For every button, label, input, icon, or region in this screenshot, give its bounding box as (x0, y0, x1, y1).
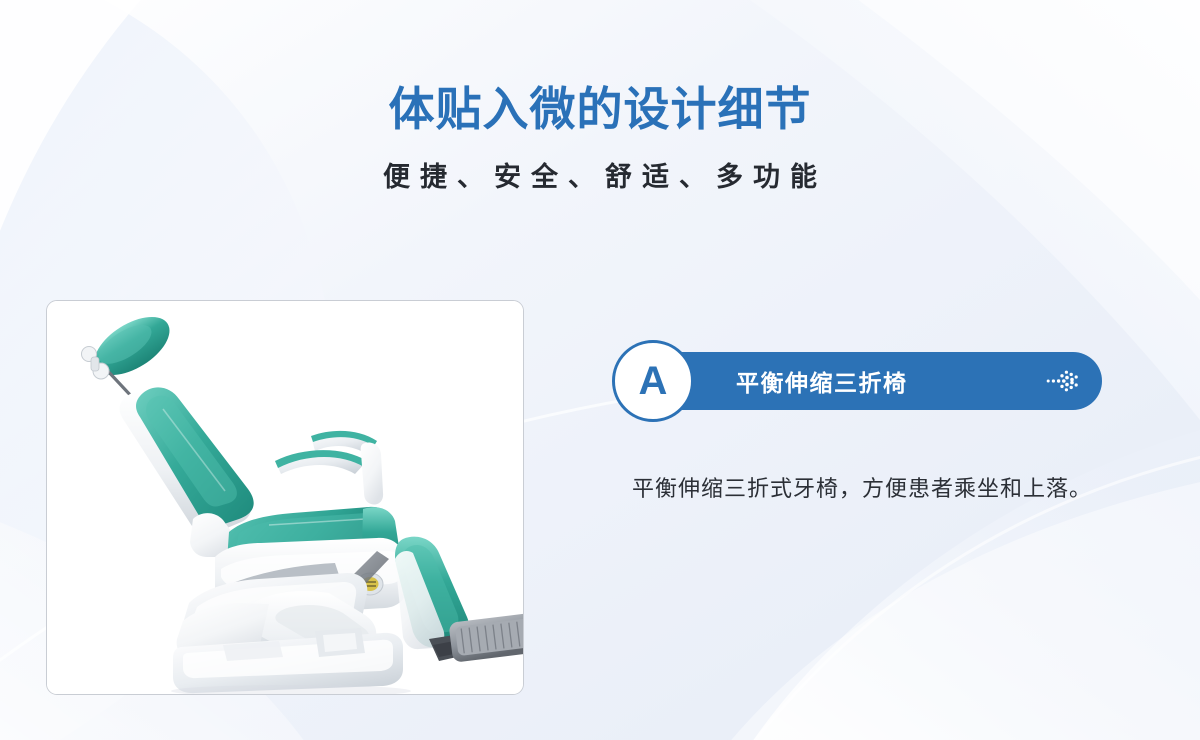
feature-heading-row[interactable]: 平衡伸缩三折椅 (612, 340, 1132, 422)
page-title: 体贴入微的设计细节 (0, 0, 1200, 132)
feature-pill[interactable]: 平衡伸缩三折椅 (632, 352, 1102, 410)
promo-banner: 体贴入微的设计细节 便捷、安全、舒适、多功能 (0, 0, 1200, 740)
dotted-arrow-right-icon (1046, 370, 1080, 392)
page-subtitle: 便捷、安全、舒适、多功能 (0, 132, 1200, 191)
product-image-card (46, 300, 524, 695)
feature-pill-label: 平衡伸缩三折椅 (736, 352, 908, 410)
banner-header: 体贴入微的设计细节 便捷、安全、舒适、多功能 (0, 0, 1200, 191)
feature-description: 平衡伸缩三折式牙椅，方便患者乘坐和上落。 (612, 422, 1117, 511)
dental-chair-image (47, 301, 523, 694)
feature-detail-column: 平衡伸缩三折椅 (612, 340, 1132, 511)
feature-badge-letter: A (639, 361, 668, 401)
feature-badge: A (612, 340, 694, 422)
